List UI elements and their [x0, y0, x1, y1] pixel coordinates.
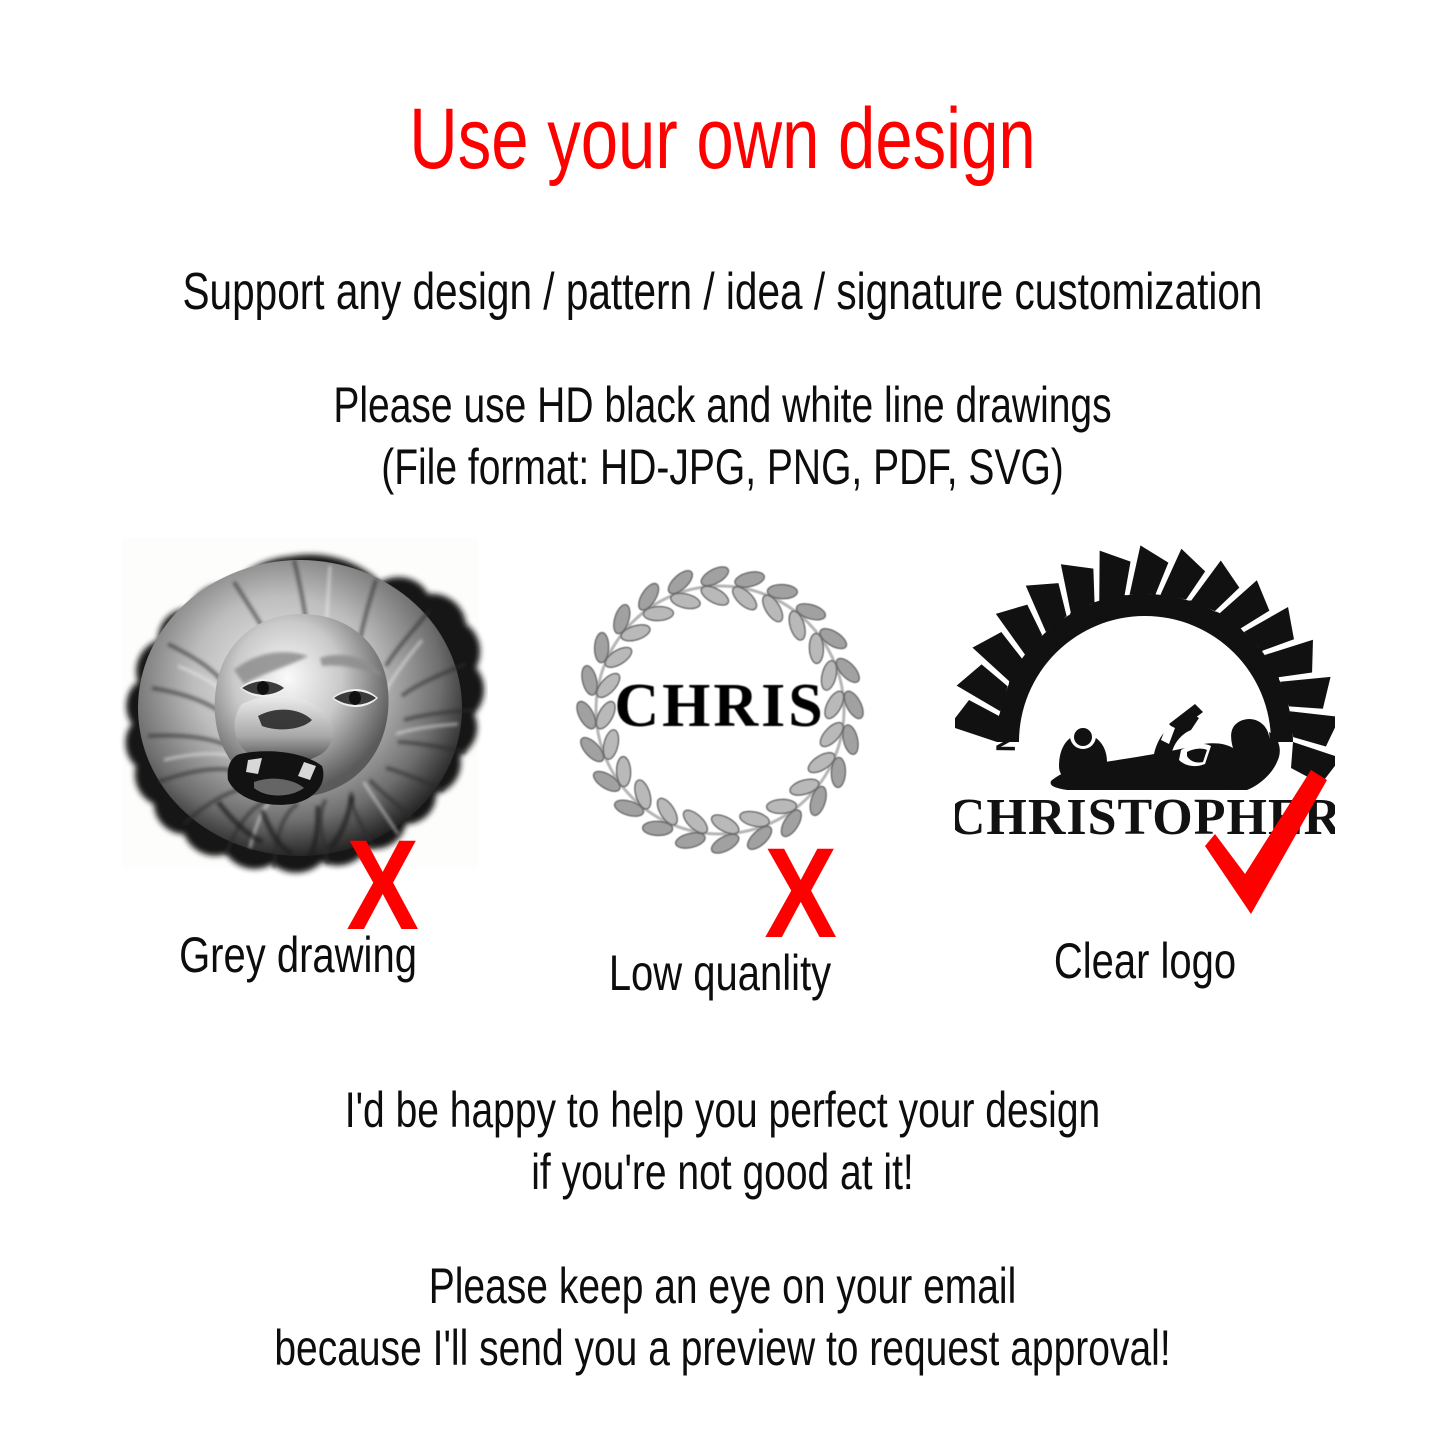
help-note-line-2: if you're not good at it! — [159, 1141, 1286, 1203]
email-note: Please keep an eye on your email because… — [159, 1255, 1286, 1379]
help-note-line-1: I'd be happy to help you perfect your de… — [159, 1079, 1286, 1141]
page-title: Use your own design — [159, 96, 1286, 182]
check-mark-icon — [1201, 770, 1331, 920]
promo-graphic: Use your own design Support any design /… — [0, 0, 1445, 1445]
cross-mark-icon: X — [346, 822, 419, 950]
format-note-line-2: (File format: HD-JPG, PNG, PDF, SVG) — [159, 436, 1286, 498]
email-note-line-1: Please keep an eye on your email — [159, 1255, 1286, 1317]
examples-row: X Grey drawing — [0, 530, 1445, 1050]
cross-mark-icon: X — [764, 830, 837, 958]
svg-text:CHRIS: CHRIS — [614, 672, 825, 740]
laurel-wreath-icon: CHRIS — [530, 530, 910, 900]
format-note: Please use HD black and white line drawi… — [159, 374, 1286, 498]
example-low-quality: CHRIS X Low quanlity — [530, 530, 910, 1050]
subtitle-text: Support any design / pattern / idea / si… — [159, 266, 1286, 318]
format-note-line-1: Please use HD black and white line drawi… — [159, 374, 1286, 436]
email-note-line-2: because I'll send you a preview to reque… — [159, 1317, 1286, 1379]
help-note: I'd be happy to help you perfect your de… — [159, 1079, 1286, 1203]
example-grey-drawing: X Grey drawing — [108, 530, 488, 1050]
lion-head-icon — [108, 530, 488, 900]
example-clear-logo: HAND CRAFTED WOODWORKING — [955, 530, 1335, 1050]
example-caption: Clear logo — [993, 936, 1297, 986]
